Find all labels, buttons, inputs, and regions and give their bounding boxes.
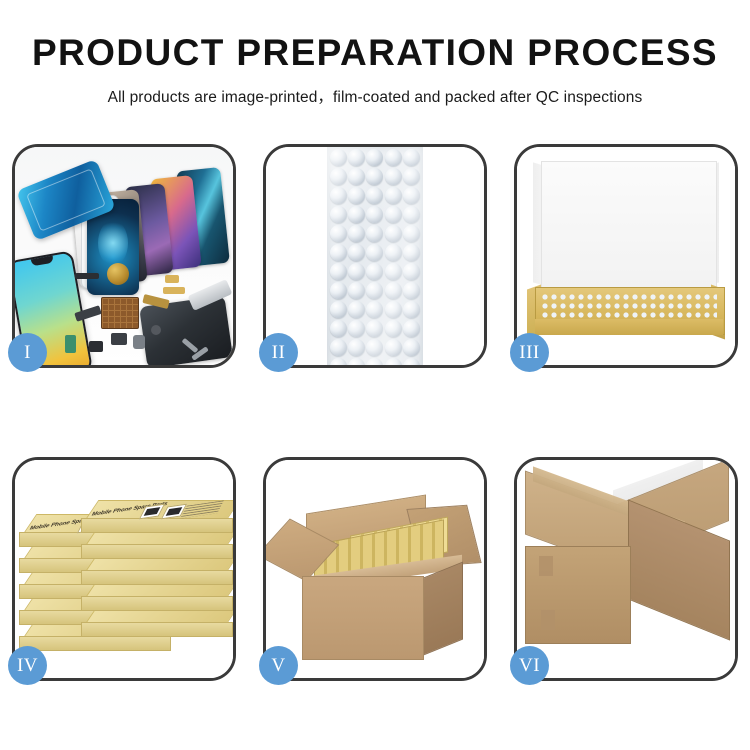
carton-seam-upper bbox=[539, 556, 553, 576]
open-carton-scene bbox=[266, 460, 484, 678]
step-panel-5[interactable]: V bbox=[263, 457, 487, 681]
step-panel-3[interactable]: III bbox=[514, 144, 738, 368]
stacked-box-labeled: Mobile Phone Spare Parts bbox=[81, 500, 231, 530]
chip-grid bbox=[101, 297, 139, 329]
step-image-5 bbox=[266, 460, 484, 678]
carton-seam-lower bbox=[541, 610, 555, 630]
part-f bbox=[111, 333, 127, 345]
step-panel-4[interactable]: Mobile Phone Spare Parts bbox=[12, 457, 236, 681]
step-panel-1[interactable]: I bbox=[12, 144, 236, 368]
step-badge-4: IV bbox=[8, 646, 47, 685]
part-c bbox=[163, 287, 185, 294]
step-image-6 bbox=[517, 460, 735, 678]
step-badge-5: V bbox=[259, 646, 298, 685]
carton-side bbox=[421, 562, 463, 657]
bubble-wrap-scene bbox=[266, 147, 484, 365]
wrap-sheen bbox=[327, 147, 423, 365]
part-a bbox=[75, 273, 99, 279]
inner-box-scene bbox=[517, 147, 735, 365]
step-image-1 bbox=[15, 147, 233, 365]
part-i bbox=[89, 341, 103, 352]
page-header: PRODUCT PREPARATION PROCESS All products… bbox=[0, 0, 750, 107]
page-subtitle: All products are image-printed，film-coat… bbox=[0, 85, 750, 107]
phone-parts-scene bbox=[15, 147, 233, 365]
part-h bbox=[65, 335, 76, 353]
bubble-wrap-sheet bbox=[327, 147, 423, 365]
box-lid-back bbox=[541, 161, 717, 291]
speaker-coil bbox=[107, 263, 129, 285]
part-j bbox=[151, 325, 161, 335]
tray-front-face bbox=[535, 319, 723, 335]
stacked-boxes-scene: Mobile Phone Spare Parts bbox=[15, 460, 233, 678]
step-badge-1: I bbox=[8, 333, 47, 372]
box-stack: Mobile Phone Spare Parts bbox=[19, 482, 233, 678]
part-g bbox=[133, 335, 145, 349]
step-image-3 bbox=[517, 147, 735, 365]
step-badge-3: III bbox=[510, 333, 549, 372]
page-title: PRODUCT PREPARATION PROCESS bbox=[0, 34, 750, 71]
carton-front bbox=[302, 576, 424, 660]
step-image-2 bbox=[266, 147, 484, 365]
part-b bbox=[165, 275, 179, 283]
step-badge-6: VI bbox=[510, 646, 549, 685]
step-image-4: Mobile Phone Spare Parts bbox=[15, 460, 233, 678]
step-panel-2[interactable]: II bbox=[263, 144, 487, 368]
step-panel-6[interactable]: VI bbox=[514, 457, 738, 681]
sealed-carton-scene bbox=[517, 460, 735, 678]
step-badge-2: II bbox=[259, 333, 298, 372]
tray-bubble-wrap bbox=[541, 293, 717, 319]
process-steps-grid: I bbox=[12, 144, 738, 681]
